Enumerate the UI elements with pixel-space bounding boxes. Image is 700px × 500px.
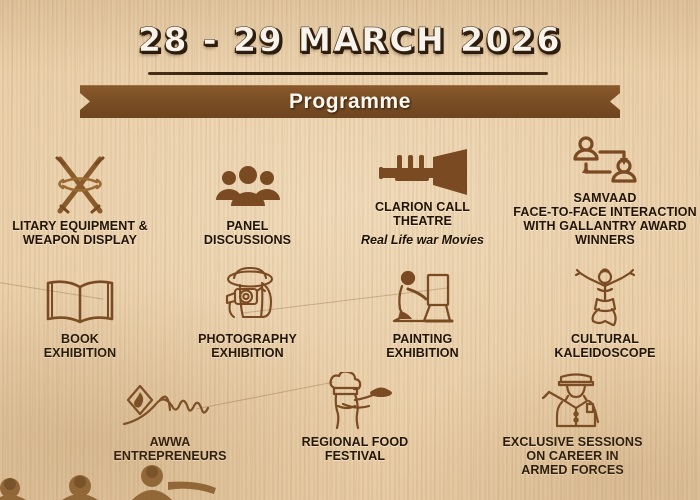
programme-item[interactable]: CULTURAL KALEIDOSCOPE: [510, 265, 700, 360]
crossed-rifles-icon: [44, 156, 116, 214]
row3-left-spacer: [0, 370, 75, 477]
top-clipped-text: · · · · · ·: [0, 0, 700, 9]
programme-banner-label: Programme: [289, 90, 411, 114]
programme-item-subtitle: Real Life war Movies: [361, 233, 484, 247]
programme-item-label: PAINTING EXHIBITION: [386, 332, 459, 360]
programme-item-label: SAMVAAD FACE-TO-FACE INTERACTION WITH GA…: [513, 191, 696, 247]
event-date-range: 28 - 29 MARCH 2026: [0, 20, 700, 59]
saluting-officer-icon: [535, 370, 611, 430]
chef-serving-icon: [315, 370, 395, 430]
two-person-exchange-icon: [570, 128, 640, 186]
programme-item[interactable]: EXCLUSIVE SESSIONS ON CAREER IN ARMED FO…: [445, 370, 700, 477]
awwa-flame-logo-icon: [120, 370, 220, 430]
programme-row-3: AWWA ENTREPRENEURS: [0, 370, 700, 477]
trumpet-icon: [375, 137, 471, 195]
programme-item-label: EXCLUSIVE SESSIONS ON CAREER IN ARMED FO…: [502, 435, 642, 477]
programme-item-label: CLARION CALL THEATRE: [375, 200, 470, 228]
photographer-icon: [212, 265, 284, 327]
programme-item-label: AWWA ENTREPRENEURS: [113, 435, 226, 463]
programme-row-1: LITARY EQUIPMENT & WEAPON DISPLAY PANEL …: [0, 128, 700, 247]
painter-easel-icon: [390, 265, 456, 327]
programme-item-label: PHOTOGRAPHY EXHIBITION: [198, 332, 297, 360]
programme-item-label: BOOK EXHIBITION: [44, 332, 117, 360]
open-book-icon: [42, 265, 118, 327]
programme-item-label: CULTURAL KALEIDOSCOPE: [554, 332, 655, 360]
programme-item-label: LITARY EQUIPMENT & WEAPON DISPLAY: [12, 219, 148, 247]
programme-item[interactable]: CLARION CALL THEATRE Real Life war Movie…: [335, 128, 510, 247]
programme-item[interactable]: LITARY EQUIPMENT & WEAPON DISPLAY: [0, 128, 160, 247]
people-group-icon: [213, 156, 283, 214]
programme-item[interactable]: SAMVAAD FACE-TO-FACE INTERACTION WITH GA…: [510, 128, 700, 247]
programme-item[interactable]: PAINTING EXHIBITION: [335, 265, 510, 360]
programme-item-label: REGIONAL FOOD FESTIVAL: [302, 435, 409, 463]
programme-item-label: PANEL DISCUSSIONS: [204, 219, 291, 247]
programme-poster: · · · · · · 28 - 29 MARCH 2026 Programme: [0, 0, 700, 500]
dancer-icon: [572, 265, 638, 327]
programme-item[interactable]: PANEL DISCUSSIONS: [160, 128, 335, 247]
programme-item[interactable]: PHOTOGRAPHY EXHIBITION: [160, 265, 335, 360]
programme-item[interactable]: REGIONAL FOOD FESTIVAL: [265, 370, 445, 477]
programme-item[interactable]: BOOK EXHIBITION: [0, 265, 160, 360]
top-clipped-text-value: · · · · · ·: [329, 0, 371, 1]
programme-banner: Programme: [80, 85, 620, 118]
programme-item[interactable]: AWWA ENTREPRENEURS: [75, 370, 265, 477]
title-divider-rule: [148, 72, 548, 75]
programme-row-2: BOOK EXHIBITION: [0, 265, 700, 360]
